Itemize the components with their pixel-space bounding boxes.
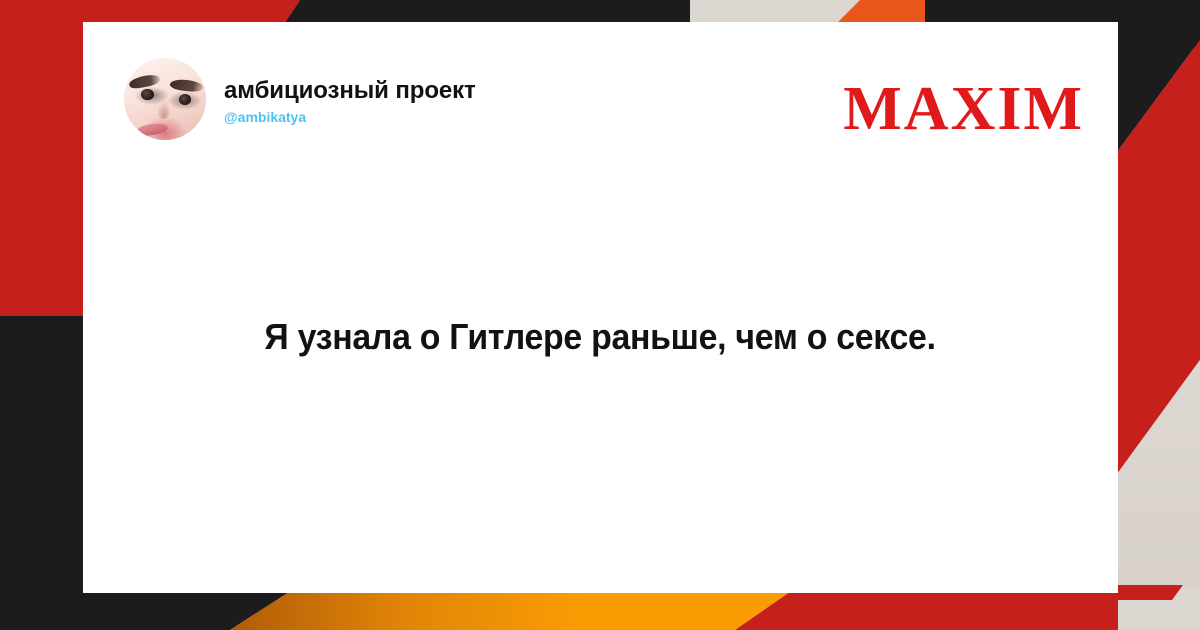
maxim-logo[interactable]: MAXIM	[843, 58, 1084, 140]
avatar-eye-left	[141, 89, 153, 100]
quote-text: Я узнала о Гитлере раньше, чем о сексе.	[265, 314, 936, 360]
left-red-band	[0, 40, 84, 318]
quote-poster: амбициозный проект @ambikatya MAXIM Я уз…	[0, 0, 1200, 630]
avatar-eye-right	[179, 94, 191, 105]
left-black-band	[0, 316, 84, 630]
author-text: амбициозный проект @ambikatya	[224, 75, 476, 124]
right-black-top	[1117, 0, 1200, 20]
card-header: амбициозный проект @ambikatya MAXIM	[124, 58, 1084, 154]
author-display-name: амбициозный проект	[224, 79, 476, 103]
avatar[interactable]	[124, 58, 206, 140]
author-handle[interactable]: @ambikatya	[224, 110, 476, 124]
quote-container: Я узнала о Гитлере раньше, чем о сексе.	[83, 314, 1118, 360]
content-card: амбициозный проект @ambikatya MAXIM Я уз…	[83, 22, 1118, 593]
author-block[interactable]: амбициозный проект @ambikatya	[124, 58, 476, 140]
